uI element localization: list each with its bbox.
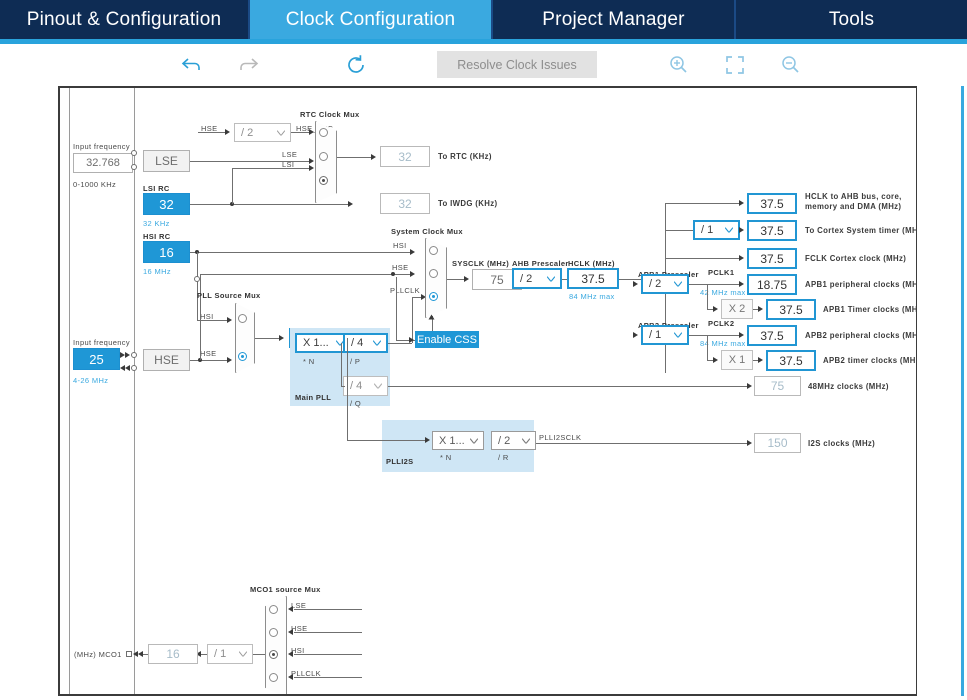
chevron-down-icon <box>470 438 478 443</box>
arrow-apb1-timer-mult <box>713 306 718 312</box>
chevron-down-icon <box>674 282 682 287</box>
lse-range-label: 0-1000 KHz <box>73 180 116 189</box>
mco1-value-box: 16 <box>148 644 198 664</box>
mco1-output-pin <box>126 651 132 657</box>
hse-pin-top <box>131 352 137 358</box>
zoom-in-icon[interactable] <box>666 52 692 78</box>
plli2s-n-multiplier-dropdown[interactable]: X 1... <box>432 431 484 450</box>
clock-tree-canvas[interactable]: Input frequency 32.768 0-1000 KHz LSE LS… <box>58 86 917 696</box>
wire-label-hse-sysmux: HSE <box>392 263 408 272</box>
rtc-mux-option-hse-rtc[interactable] <box>319 128 328 137</box>
mco1-mux-option-hse[interactable] <box>269 628 278 637</box>
zoom-out-icon[interactable] <box>778 52 804 78</box>
chevron-down-icon <box>277 130 285 135</box>
hsi-value-box[interactable]: 16 <box>143 241 190 263</box>
output-box-hclk-ahb: 37.5 <box>747 193 797 214</box>
wire-n-to-q-h <box>341 386 345 387</box>
arrow-mco1-pin2 <box>133 651 138 657</box>
output-box-fclk: 37.5 <box>747 248 797 269</box>
sysclk-mux-option-hsi[interactable] <box>429 246 438 255</box>
apb2-prescaler-value: / 1 <box>649 329 661 341</box>
hclk-max-label: 84 MHz max <box>569 292 615 301</box>
redo-icon[interactable] <box>235 52 261 78</box>
chevron-down-icon <box>239 652 247 657</box>
wire-m-to-plli2s <box>347 440 426 441</box>
arrow-out-2 <box>739 255 744 261</box>
pll-p-sub-label: / P <box>350 357 360 366</box>
plli2s-title: PLLI2S <box>386 457 414 466</box>
output-label-apb1-timer: APB1 Timer clocks (MHz) <box>823 305 917 315</box>
enable-css-button[interactable]: Enable CSS <box>415 331 479 348</box>
junction-hse-sysmux <box>391 272 395 276</box>
mco1-divider-dropdown[interactable]: / 1 <box>207 644 253 664</box>
output-label-line1: HCLK to AHB bus, core, <box>805 192 902 201</box>
arrow-hse-rtcdiv <box>225 129 230 135</box>
hclk-label: HCLK (MHz) <box>568 259 615 268</box>
output-label-apb1-periph: APB1 peripheral clocks (MHz) <box>805 280 917 290</box>
hse-pin-bottom <box>131 365 137 371</box>
lse-pin-top <box>131 150 137 156</box>
wire-label-pllclk: PLLCLK <box>390 286 420 295</box>
arrow-out-3 <box>739 281 744 287</box>
wire-rtcdiv-to-rtcmux <box>291 132 310 133</box>
chip-boundary-rail-inner <box>134 88 135 696</box>
wire-mco1-in-hsi <box>294 654 362 655</box>
lsi-title: LSI RC <box>143 184 170 193</box>
pll-source-mux[interactable] <box>235 303 255 373</box>
arrow-lsi-rtcmux <box>309 165 314 171</box>
lse-input-frequency-label: Input frequency <box>73 142 130 151</box>
wire-branch-fclk <box>665 258 740 259</box>
rtc-mux-option-lse[interactable] <box>319 152 328 161</box>
wire-plli2s-out <box>536 443 748 444</box>
mco1-divider-value: / 1 <box>214 648 226 660</box>
lse-input-frequency-field[interactable]: 32.768 <box>73 153 133 173</box>
sysclk-label: SYSCLK (MHz) <box>452 259 509 268</box>
plli2s-r-value: / 2 <box>498 435 510 447</box>
output-label-fclk: FCLK Cortex clock (MHz) <box>805 254 906 264</box>
wire-apb2-out <box>689 335 740 336</box>
wire-apb1-to-timer <box>707 284 708 309</box>
chevron-down-icon <box>374 384 382 389</box>
arrow-out-4 <box>758 306 763 312</box>
iwdg-output-box: 32 <box>380 193 430 214</box>
pll-source-mux-title: PLL Source Mux <box>197 291 261 300</box>
output-label-apb2-timer: APB2 timer clocks (MHz) <box>823 356 917 366</box>
apb2-timer-multiplier-box: X 1 <box>721 350 753 370</box>
system-clock-mux-title: System Clock Mux <box>391 227 463 236</box>
pll-q-value: / 4 <box>350 380 362 392</box>
arrow-lse-rtcmux <box>309 158 314 164</box>
arrow-48mhz <box>747 383 752 389</box>
mco1-source-mux-title: MCO1 source Mux <box>250 585 321 594</box>
output-box-apb2-periph: 37.5 <box>747 325 797 346</box>
wire-apb1-out <box>689 284 740 285</box>
plli2s-r-divider-dropdown[interactable]: / 2 <box>491 431 536 450</box>
lse-oscillator-box[interactable]: LSE <box>143 150 190 172</box>
arrow-out-5 <box>739 332 744 338</box>
wire-hse-to-rtcdiv <box>198 132 226 133</box>
wire-lsi-branch-right <box>232 168 310 169</box>
arrow-rtcmux-out <box>371 154 376 160</box>
wire-branch-cortex-div <box>665 230 693 231</box>
output-label-hclk-ahb: HCLK to AHB bus, core, memory and DMA (M… <box>805 192 902 212</box>
hsi-sub-label: 16 MHz <box>143 267 171 276</box>
tab-label: Project Manager <box>542 9 684 31</box>
main-pll-title: Main PLL <box>295 393 331 402</box>
rtc-clock-mux-title: RTC Clock Mux <box>300 110 360 119</box>
arrow-apb1-presc <box>633 281 638 287</box>
wire-hse-to-sysmux <box>200 274 411 275</box>
iwdg-output-label: To IWDG (KHz) <box>438 199 497 209</box>
apb1-timer-multiplier-box: X 2 <box>721 299 753 319</box>
wire-branch-hclk-ahb <box>665 203 740 204</box>
arrow-hsi-sysmux <box>410 249 415 255</box>
chevron-down-icon <box>674 333 682 338</box>
wire-lsi-main <box>190 204 350 205</box>
pll-mux-option-hse[interactable] <box>238 352 247 361</box>
i2s-output-box: 150 <box>754 433 801 453</box>
output-label-apb2-periph: APB2 peripheral clocks (MHz) <box>805 331 917 341</box>
tab-label: Pinout & Configuration <box>27 9 222 31</box>
hse-rtc-divider-value: / 2 <box>241 127 253 139</box>
lsi-sub-label: 32 KHz <box>143 219 170 228</box>
wire-rtcmux-out <box>337 157 372 158</box>
output-box-cortex-timer: 37.5 <box>747 220 797 241</box>
plli2sclk-wire-label: PLLI2SCLK <box>539 433 581 442</box>
wire-mco1-in-pllclk <box>294 677 362 678</box>
arrow-hsertc-rtcmux <box>309 129 314 135</box>
arrow-sysclk <box>464 276 469 282</box>
arrow-hse-sysmux <box>410 271 415 277</box>
wire-css-from-hse <box>396 277 397 340</box>
arrow-hse-in-2 <box>125 352 130 358</box>
arrow-lsi-iwdg <box>348 201 353 207</box>
lsi-value-box[interactable]: 32 <box>143 193 190 215</box>
wire-n-to-q <box>341 343 342 386</box>
arrow-hse-out-2 <box>125 365 130 371</box>
arrow-out-6 <box>758 357 763 363</box>
pll-p-value: / 4 <box>351 337 363 349</box>
arrow-plli2s-n <box>425 437 430 443</box>
ahb-prescaler-value: / 2 <box>520 273 532 285</box>
undo-icon[interactable] <box>179 52 205 78</box>
plli2s-n-value: X 1... <box>439 435 465 447</box>
wire-sysmux-to-sysclk <box>447 279 465 280</box>
wire-lsi-branch-up <box>232 168 233 204</box>
tab-label: Clock Configuration <box>286 9 456 31</box>
arrow-mco1-hse <box>288 629 293 635</box>
tab-label: Tools <box>829 9 874 31</box>
rtc-output-label: To RTC (KHz) <box>438 152 492 162</box>
ahb-prescaler-dropdown[interactable]: / 2 <box>512 268 562 289</box>
hsi-title: HSI RC <box>143 232 171 241</box>
vertical-scrollbar[interactable] <box>961 86 964 696</box>
hse-input-frequency-field[interactable]: 25 <box>73 348 120 370</box>
i2s-output-label: I2S clocks (MHz) <box>808 439 875 449</box>
wire-label-hsi-sysmux: HSI <box>393 241 407 250</box>
arrow-apb2-timer-mult <box>713 357 718 363</box>
sysclk-mux-option-pllclk[interactable] <box>429 292 438 301</box>
arrow-i2s-out <box>747 440 752 446</box>
apb2-prescaler-dropdown[interactable]: / 1 <box>641 325 689 345</box>
wire-pllmux-to-m <box>255 338 280 339</box>
mco1-mux-option-pllclk[interactable] <box>269 673 278 682</box>
wire-p-out <box>388 343 412 344</box>
pll-q-sub-label: / Q <box>350 399 361 408</box>
plli2s-n-sub-label: * N <box>440 453 451 462</box>
pll-q-divider-dropdown[interactable]: / 4 <box>343 376 388 396</box>
pll-n-value: X 1... <box>303 337 329 349</box>
tab-tools[interactable]: Tools <box>736 0 967 39</box>
tab-pinout-configuration[interactable]: Pinout & Configuration <box>0 0 250 39</box>
wire-apb2-to-timer <box>707 335 708 360</box>
chip-boundary-rail-left <box>69 88 70 696</box>
tab-clock-configuration[interactable]: Clock Configuration <box>250 0 493 39</box>
output-box-apb2-timer: 37.5 <box>766 350 816 371</box>
pclk1-label: PCLK1 <box>708 268 734 277</box>
tab-project-manager[interactable]: Project Manager <box>493 0 736 39</box>
clk48-output-box: 75 <box>754 376 801 396</box>
arrow-out-0 <box>739 200 744 206</box>
hse-rtc-divider-dropdown[interactable]: / 2 <box>234 123 291 142</box>
pll-n-sub-label: * N <box>303 357 314 366</box>
hse-range-label: 4-26 MHz <box>73 376 108 385</box>
apb1-prescaler-dropdown[interactable]: / 2 <box>641 274 689 294</box>
output-label-line2: memory and DMA (MHz) <box>805 202 901 211</box>
output-box-apb1-timer: 37.5 <box>766 299 816 320</box>
pll-p-divider-dropdown[interactable]: / 4 <box>343 333 388 353</box>
wire-m-down-to-plli2s <box>347 338 348 440</box>
chevron-down-icon <box>725 228 733 233</box>
mco1-mux-option-lse[interactable] <box>269 605 278 614</box>
arrow-mco1-pllclk <box>288 674 293 680</box>
pll-mux-option-hsi[interactable] <box>238 314 247 323</box>
arrow-pllmux-m <box>279 335 284 341</box>
rtc-mux-option-lsi[interactable] <box>319 176 328 185</box>
arrow-mco1-lse <box>288 606 293 612</box>
wire-hse-out <box>190 360 228 361</box>
arrow-hse-pllmux <box>227 357 232 363</box>
chevron-down-icon <box>522 438 530 443</box>
wire-label-lsi: LSI <box>282 160 294 169</box>
apb1-prescaler-value: / 2 <box>649 278 661 290</box>
rtc-output-box: 32 <box>380 146 430 167</box>
arrow-css-in <box>409 337 414 343</box>
wire-hsi-to-sysmux <box>190 252 411 253</box>
arrow-apb2-presc <box>633 332 638 338</box>
arrow-css-up <box>428 315 434 320</box>
cortex-divider-dropdown[interactable]: / 1 <box>693 220 740 240</box>
wire-mco1-in-hse <box>294 632 362 633</box>
arrow-mco1-hsi <box>288 651 293 657</box>
hse-input-frequency-label: Input frequency <box>73 338 130 347</box>
arrow-mco1-pin <box>138 651 143 657</box>
hse-oscillator-box[interactable]: HSE <box>143 349 190 371</box>
output-box-apb1-periph: 18.75 <box>747 274 797 295</box>
cortex-divider-value: / 1 <box>701 224 713 236</box>
wire-label-hsi-pllmux: HSI <box>200 312 214 321</box>
lse-pin-bottom <box>131 164 137 170</box>
clk48-output-label: 48MHz clocks (MHz) <box>808 382 889 392</box>
main-tab-bar: Pinout & Configuration Clock Configurati… <box>0 0 967 39</box>
ahb-prescaler-label: AHB Prescaler <box>512 259 569 268</box>
sysclk-mux-option-hse[interactable] <box>429 269 438 278</box>
resolve-clock-issues-button[interactable]: Resolve Clock Issues <box>437 51 597 78</box>
arrow-hsi-pllmux <box>227 317 232 323</box>
arrow-out-1 <box>739 227 744 233</box>
chevron-down-icon <box>373 341 381 346</box>
fit-to-screen-icon[interactable] <box>722 52 748 78</box>
wire-hsi-branch-down <box>197 252 198 320</box>
mco1-pin-label: (MHz) MCO1 <box>74 650 122 659</box>
wire-mco1-in-lse <box>294 609 362 610</box>
wire-q-to-48mhz <box>388 386 748 387</box>
mco1-mux-option-hsi[interactable] <box>269 650 278 659</box>
refresh-icon[interactable] <box>343 52 369 78</box>
wire-label-hse-pllmux: HSE <box>200 349 216 358</box>
wire-label-lse: LSE <box>282 150 297 159</box>
output-label-cortex-timer: To Cortex System timer (MHz) <box>805 226 917 236</box>
wire-hse-branch-up <box>200 274 201 360</box>
chevron-down-icon <box>547 276 555 281</box>
pclk2-label: PCLK2 <box>708 319 734 328</box>
plli2s-r-sub-label: / R <box>498 453 509 462</box>
hclk-value-box: 37.5 <box>567 268 619 289</box>
